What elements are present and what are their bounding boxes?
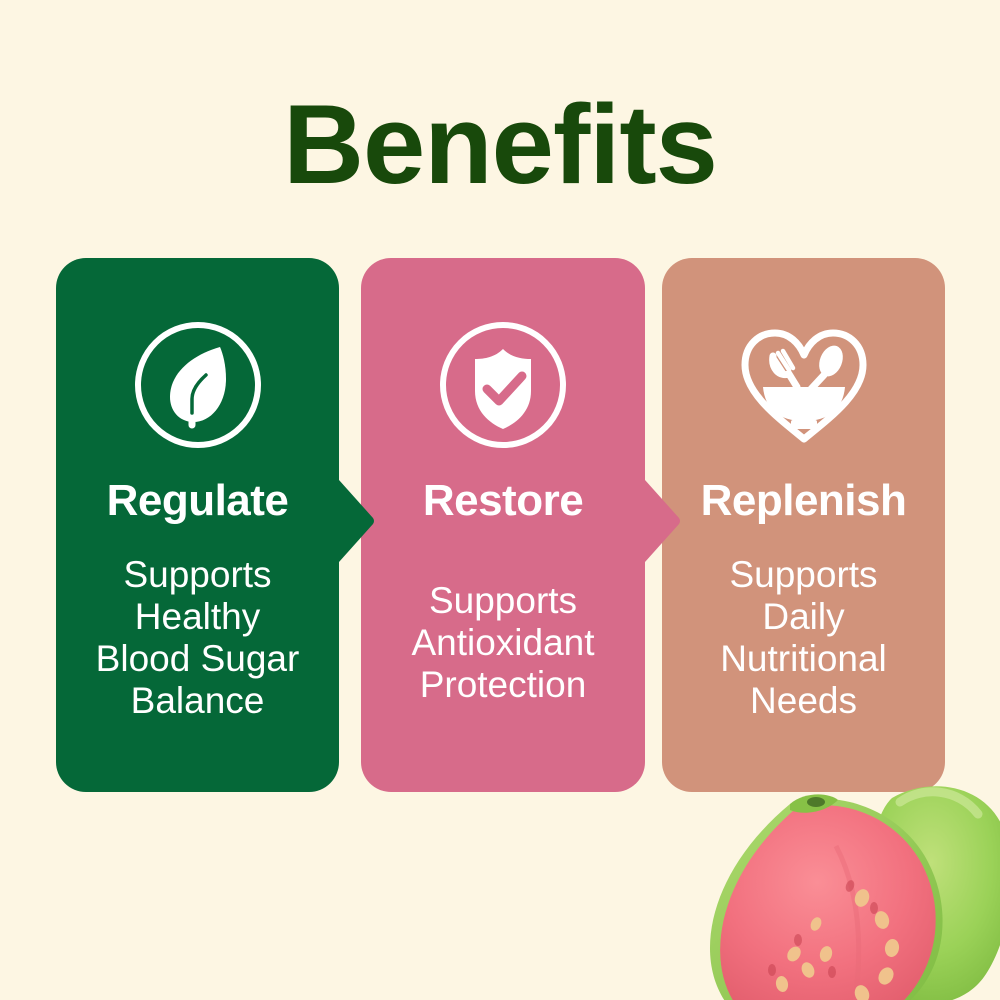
desc-line: Nutritional [668, 638, 939, 680]
desc-line: Supports [367, 580, 639, 622]
benefit-cards-row: Regulate Supports Healthy Blood Sugar Ba… [0, 258, 1000, 792]
benefit-card-regulate[interactable]: Regulate Supports Healthy Blood Sugar Ba… [56, 258, 339, 792]
page-title: Benefits [0, 86, 1000, 204]
guava-fruit-photo [686, 758, 1000, 1000]
infographic-canvas: Benefits Regulate Supports Healthy Blood… [0, 0, 1000, 1000]
card-description-replenish: Supports Daily Nutritional Needs [668, 554, 939, 722]
desc-line: Balance [62, 680, 333, 722]
card-description-restore: Supports Antioxidant Protection [367, 580, 639, 706]
desc-line: Needs [668, 680, 939, 722]
benefit-card-restore[interactable]: Restore Supports Antioxidant Protection [361, 258, 645, 792]
desc-line: Protection [367, 664, 639, 706]
desc-line: Supports [668, 554, 939, 596]
shield-check-icon [361, 321, 645, 449]
desc-line: Antioxidant [367, 622, 639, 664]
desc-line: Blood Sugar [62, 638, 333, 680]
leaf-icon [56, 321, 339, 449]
card-title-replenish: Replenish [662, 476, 945, 526]
card-description-regulate: Supports Healthy Blood Sugar Balance [62, 554, 333, 722]
desc-line: Supports [62, 554, 333, 596]
card-title-restore: Restore [361, 476, 645, 526]
heart-bowl-icon [662, 321, 945, 449]
arrow-chevron-icon-1 [339, 480, 375, 562]
card-title-regulate: Regulate [56, 476, 339, 526]
arrow-chevron-icon-2 [645, 480, 681, 562]
desc-line: Daily [668, 596, 939, 638]
benefit-card-replenish[interactable]: Replenish Supports Daily Nutritional Nee… [662, 258, 945, 792]
desc-line: Healthy [62, 596, 333, 638]
